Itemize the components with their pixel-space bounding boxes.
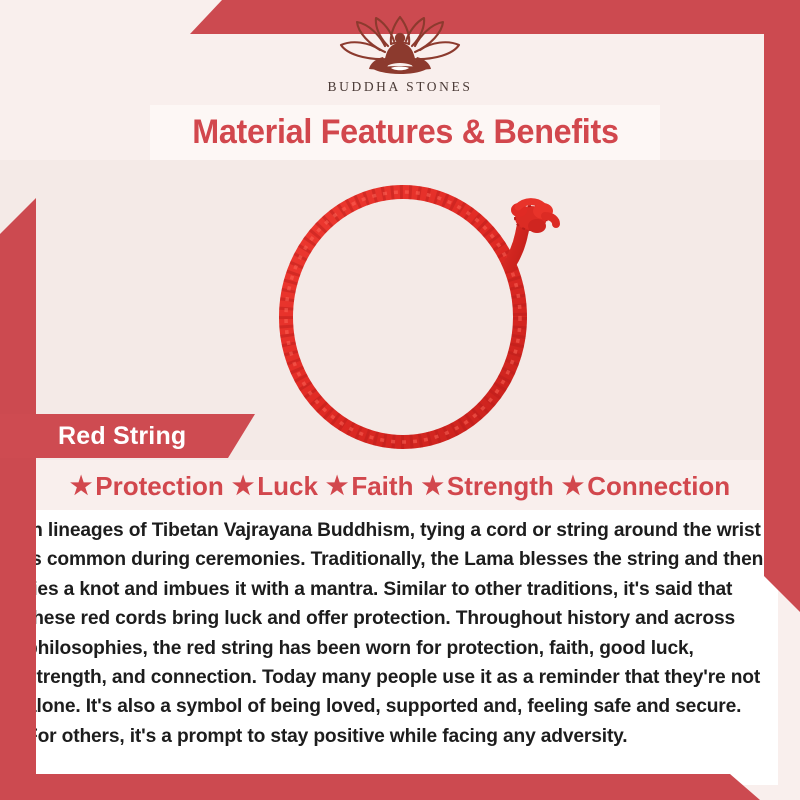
brand-name: BUDDHA STONES	[328, 79, 473, 95]
benefit-label: Faith	[351, 471, 413, 502]
benefit-label: Connection	[587, 471, 730, 502]
benefit-item-faith: ★ Faith	[326, 471, 414, 502]
frame-bottom-band	[0, 774, 760, 800]
frame-left-band	[0, 198, 36, 800]
page-title: Material Features & Benefits	[192, 113, 618, 152]
benefit-label: Protection	[95, 471, 224, 502]
benefit-label: Luck	[257, 471, 318, 502]
benefit-item-strength: ★ Strength	[421, 471, 553, 502]
benefit-item-connection: ★ Connection	[562, 471, 730, 502]
infographic-page: BUDDHA STONES Material Features & Benefi…	[0, 0, 800, 800]
product-label-banner: Red String	[0, 414, 255, 458]
star-icon: ★	[562, 474, 584, 499]
lotus-meditation-icon	[325, 12, 475, 78]
benefit-label: Strength	[447, 471, 554, 502]
benefit-item-protection: ★ Protection	[70, 471, 224, 502]
star-icon: ★	[326, 474, 348, 499]
star-icon: ★	[421, 474, 443, 499]
product-label: Red String	[58, 422, 186, 451]
benefit-item-luck: ★ Luck	[232, 471, 318, 502]
star-icon: ★	[70, 474, 92, 499]
description-panel: In lineages of Tibetan Vajrayana Buddhis…	[22, 510, 778, 785]
description-text: In lineages of Tibetan Vajrayana Buddhis…	[22, 510, 778, 751]
star-icon: ★	[232, 474, 254, 499]
title-banner: Material Features & Benefits	[150, 105, 660, 160]
benefits-row: ★ Protection ★ Luck ★ Faith ★ Strength ★…	[0, 462, 800, 510]
brand-logo: BUDDHA STONES	[0, 12, 800, 104]
